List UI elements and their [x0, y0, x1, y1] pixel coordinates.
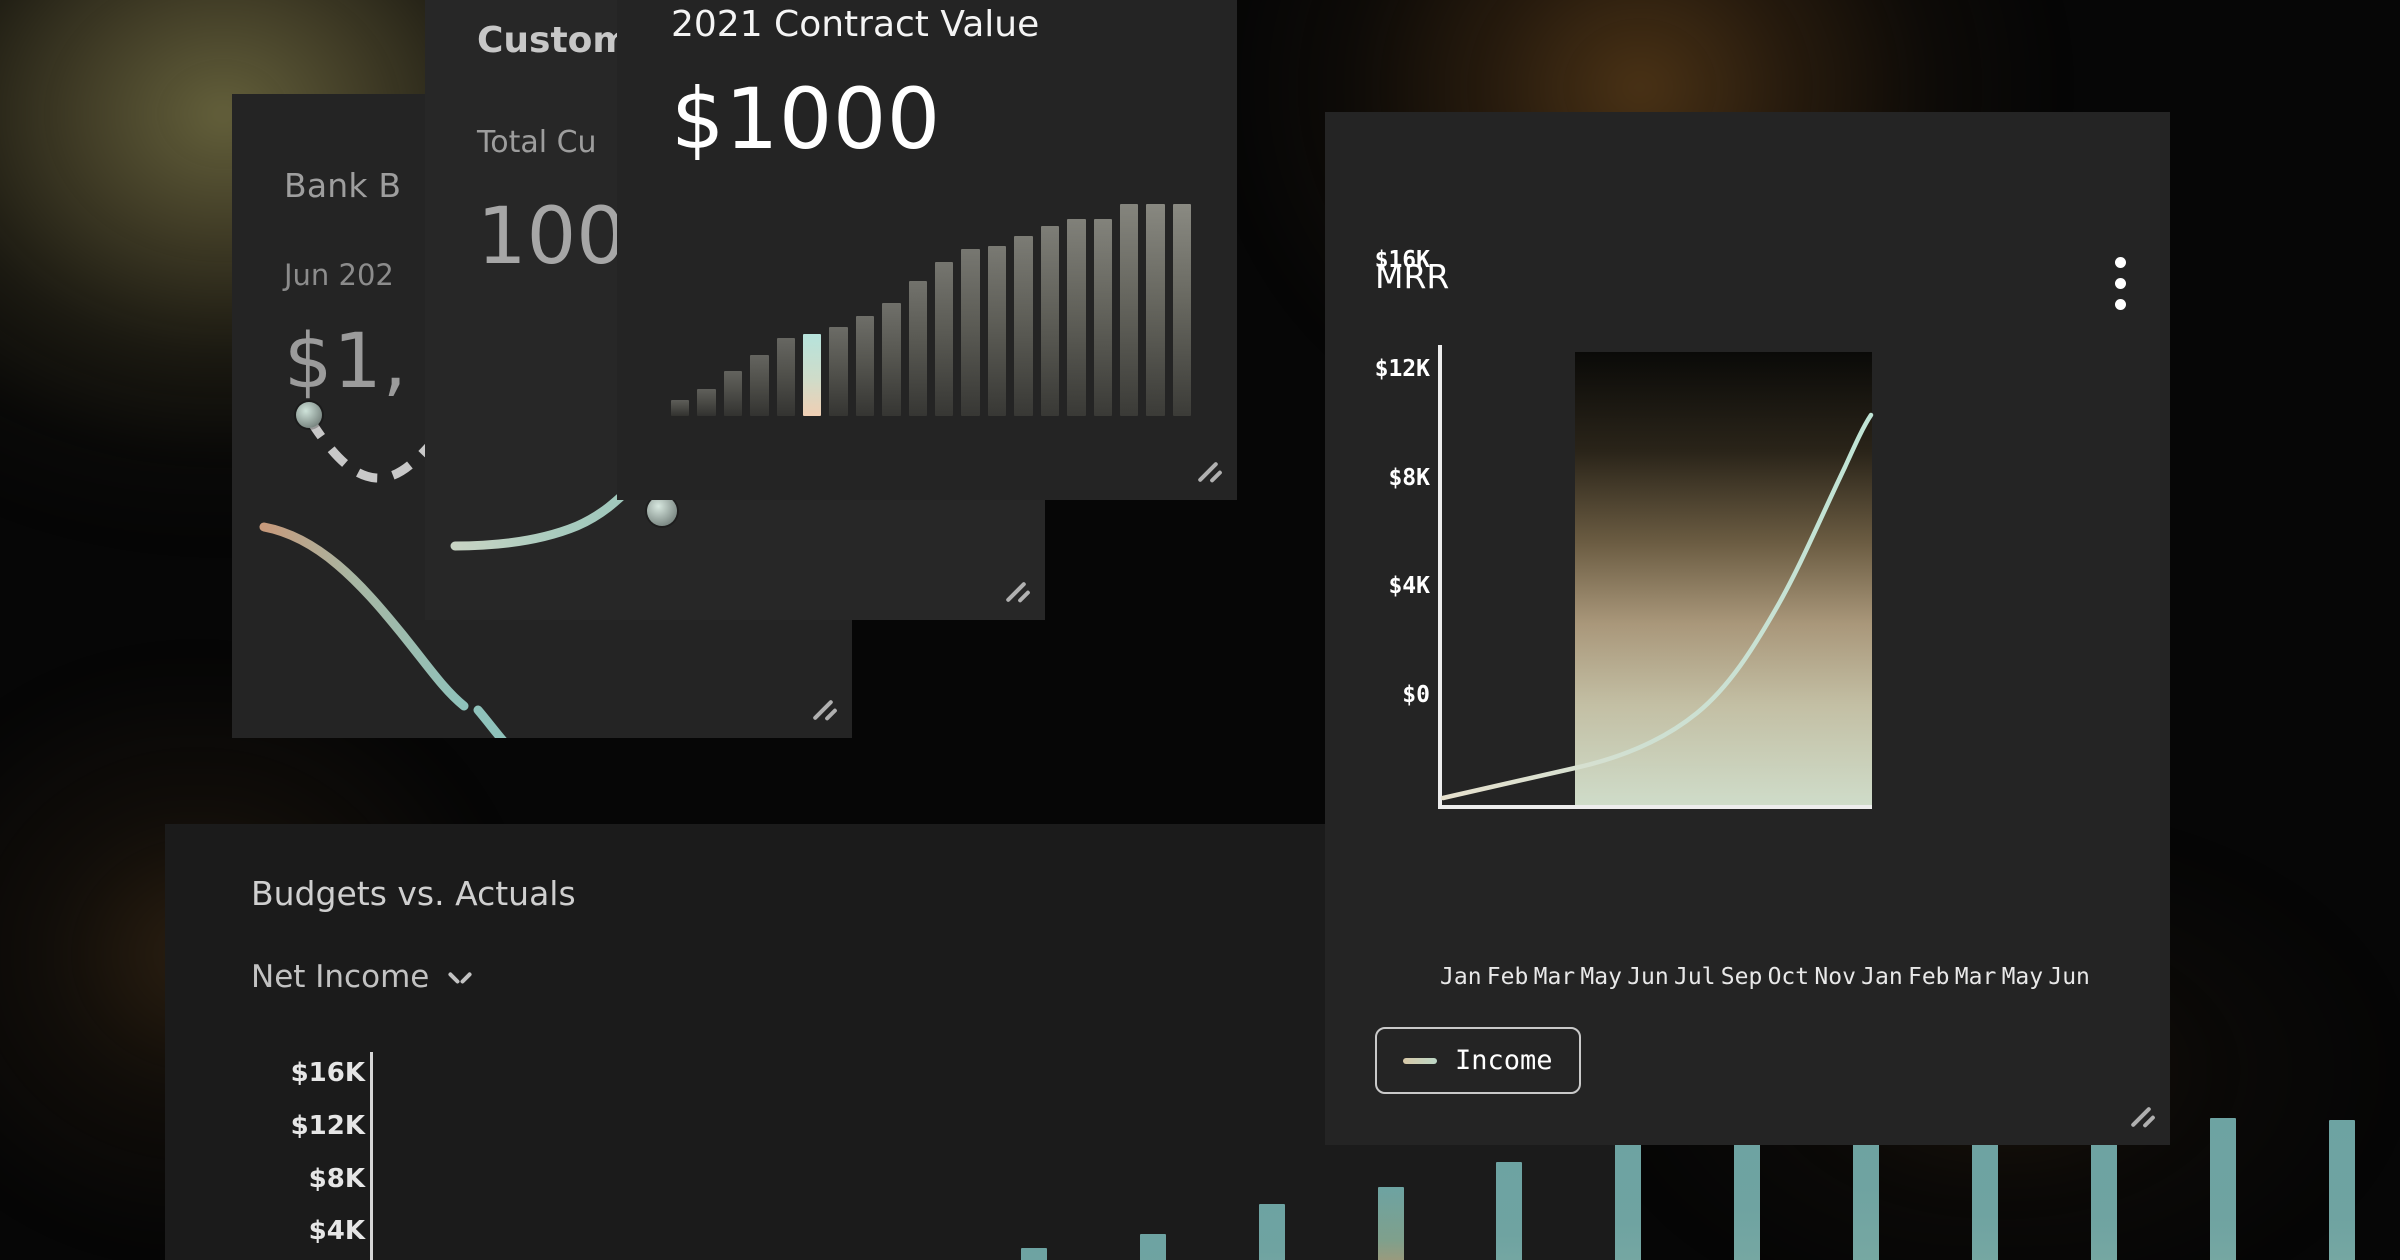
mrr-x-tick: May [2002, 964, 2044, 990]
budgets-y-axis-line [370, 1052, 373, 1260]
budgets-y-tick: $4K [309, 1216, 365, 1246]
contract-value-title: 2021 Contract Value [671, 4, 1039, 45]
budgets-bar-slot [2282, 1060, 2400, 1260]
bank-balance-title: Bank B [284, 166, 401, 205]
sparkline-bar [1120, 204, 1138, 416]
sparkline-bar [882, 303, 900, 416]
mrr-card[interactable]: MRR [1325, 112, 2170, 1145]
mrr-y-tick: $16K [1375, 247, 1430, 273]
customers-subtitle: Total Cu [477, 125, 597, 160]
mrr-y-tick: $12K [1375, 356, 1430, 382]
budgets-bar [1140, 1234, 1166, 1260]
budgets-bar-slot [1093, 1060, 1212, 1260]
budgets-bar [2329, 1120, 2355, 1260]
mrr-x-tick: Feb [1487, 964, 1529, 990]
chevron-down-icon [449, 971, 471, 983]
budgets-bar-slot [974, 1060, 1093, 1260]
bank-balance-data-point[interactable] [296, 402, 322, 428]
sparkline-bar [1173, 204, 1191, 416]
sparkline-bar [829, 327, 847, 416]
legend-label: Income [1455, 1045, 1553, 1076]
legend-line-swatch [1403, 1058, 1437, 1064]
bank-balance-period: Jun 202 [284, 258, 394, 292]
sparkline-bar [1014, 236, 1032, 416]
mrr-y-tick: $4K [1388, 573, 1430, 599]
budgets-bar [1496, 1162, 1522, 1260]
sparkline-bar [909, 281, 927, 416]
budgets-bar [1378, 1187, 1404, 1260]
sparkline-bar [961, 249, 979, 416]
sparkline-bar [856, 316, 874, 416]
mrr-y-axis-labels: $0$4K$8K$12K$16K [1340, 215, 1430, 715]
sparkline-bar [935, 262, 953, 416]
mrr-x-tick: Jun [2048, 964, 2090, 990]
budgets-y-tick: $12K [291, 1111, 365, 1141]
budgets-card-title: Budgets vs. Actuals [251, 874, 576, 913]
sparkline-bar [1067, 219, 1085, 416]
customers-data-point[interactable] [647, 496, 677, 526]
budgets-bar-slot [2163, 1060, 2282, 1260]
mrr-x-axis-labels: JanFebMarMayJunJulSepOctNovJanFebMarMayJ… [1440, 964, 2090, 990]
mrr-x-tick: Jan [1861, 964, 1903, 990]
mrr-x-tick: Mar [1534, 964, 1576, 990]
resize-handle-icon[interactable] [808, 696, 838, 726]
customers-value: 100 [477, 192, 626, 282]
kebab-menu-icon[interactable] [2108, 257, 2132, 317]
mrr-legend-income[interactable]: Income [1375, 1027, 1581, 1094]
budgets-bar-slot [618, 1060, 737, 1260]
budgets-bar-slot [499, 1060, 618, 1260]
sparkline-bar [697, 389, 715, 416]
budgets-bar-slot [737, 1060, 856, 1260]
contract-value-amount: $1000 [671, 70, 941, 168]
resize-handle-icon[interactable] [1001, 578, 1031, 608]
budgets-metric-select[interactable]: Net Income [251, 959, 471, 995]
mrr-x-tick: Mar [1955, 964, 1997, 990]
budgets-bar [2210, 1118, 2236, 1260]
customers-title: Custom [477, 20, 630, 61]
budgets-y-tick: $8K [309, 1164, 365, 1194]
mrr-x-tick: Jun [1627, 964, 1669, 990]
mrr-x-tick: Jul [1674, 964, 1716, 990]
budgets-bar [1615, 1133, 1641, 1260]
mrr-x-tick: Oct [1768, 964, 1810, 990]
sparkline-bar [750, 355, 768, 416]
sparkline-bar [724, 371, 742, 416]
mrr-y-tick: $8K [1388, 465, 1430, 491]
mrr-line-chart [1325, 327, 2170, 1057]
budgets-bar-slot [856, 1060, 975, 1260]
mrr-x-tick: May [1580, 964, 1622, 990]
contract-value-card[interactable]: 2021 Contract Value $1000 [617, 0, 1237, 500]
budgets-bar [1021, 1248, 1047, 1260]
sparkline-bar [777, 338, 795, 416]
mrr-x-tick: Feb [1908, 964, 1950, 990]
sparkline-bar [803, 334, 821, 416]
mrr-x-tick: Jan [1440, 964, 1482, 990]
budgets-bar-slot [1212, 1060, 1331, 1260]
resize-handle-icon[interactable] [1193, 458, 1223, 488]
resize-handle-icon[interactable] [2126, 1103, 2156, 1133]
sparkline-bar [1146, 204, 1164, 416]
budgets-metric-label: Net Income [251, 959, 429, 995]
mrr-x-tick: Sep [1721, 964, 1763, 990]
budgets-bar [1259, 1204, 1285, 1260]
sparkline-bar [1041, 226, 1059, 416]
sparkline-bar [1094, 219, 1112, 416]
sparkline-bar [671, 400, 689, 416]
sparkline-bar [988, 246, 1006, 416]
mrr-x-tick: Nov [1814, 964, 1856, 990]
contract-value-bar-sparkline [671, 204, 1191, 416]
budgets-bar-slot [380, 1060, 499, 1260]
budgets-y-tick: $16K [291, 1058, 365, 1088]
mrr-y-tick: $0 [1402, 682, 1430, 708]
